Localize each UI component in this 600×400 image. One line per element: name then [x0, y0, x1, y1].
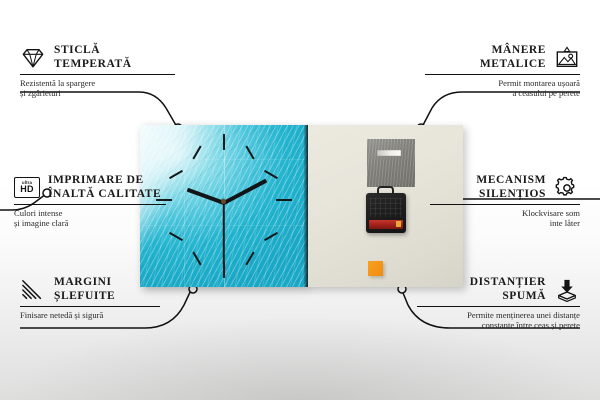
feature-title: MÂNERE METALICE: [480, 44, 546, 71]
feature-rule: [417, 306, 580, 307]
feature-title: MECANISM SILENȚIOS: [476, 174, 546, 201]
clock-tick-12: [223, 134, 225, 150]
feature-description: Culori intense și imagine clară: [14, 208, 166, 228]
feature-description: Klockvisare som inte låter: [430, 208, 580, 228]
hanger-keyhole-slot: [377, 150, 401, 156]
feature-title: DISTANȚIER SPUMĂ: [470, 276, 546, 303]
feature-rule: [20, 74, 175, 75]
ultra-hd-icon: ultra HD: [14, 177, 40, 198]
diagonal-lines-icon: [20, 278, 46, 302]
gear-icon: [554, 176, 580, 200]
diamond-icon: [20, 46, 46, 70]
feature-rule: [425, 74, 580, 75]
feature-description: Finisare netedă și sigură: [20, 310, 160, 320]
mechanism-texture: [370, 198, 402, 217]
feature-title: STICLĂ TEMPERATĂ: [54, 44, 132, 71]
clock-second-hand: [223, 203, 225, 265]
feature-description: Rezistentă la spargere și zgârieturi: [20, 78, 175, 98]
feature-high-quality-print: ultra HD IMPRIMARE DE ÎNALTĂ CALITATE Cu…: [14, 174, 166, 228]
mechanism-hanging-loop: [377, 186, 394, 195]
feature-rule: [14, 204, 166, 205]
clock-hour-hand: [187, 188, 225, 205]
clock-tick-3: [276, 199, 292, 201]
feature-description: Permit montarea ușoară a ceasului pe per…: [425, 78, 580, 98]
clock-tick-8: [169, 232, 183, 241]
clock-tick-2: [264, 170, 278, 179]
feature-polished-edges: MARGINI ȘLEFUITE Finisare netedă și sigu…: [20, 276, 160, 320]
feature-silent-mechanism: MECANISM SILENȚIOS Klockvisare som inte …: [430, 174, 580, 228]
clock-tick-5: [245, 252, 254, 266]
clock-tick-11: [192, 146, 201, 160]
clock-center-hub: [221, 199, 226, 204]
clock-tick-7: [192, 252, 201, 266]
clock-mechanism-box: [366, 193, 406, 233]
foam-spacer-pad: [368, 261, 383, 276]
clock-tick-1: [245, 146, 254, 160]
feature-title: IMPRIMARE DE ÎNALTĂ CALITATE: [48, 174, 161, 201]
feature-foam-spacer: DISTANȚIER SPUMĂ Permite menținerea unei…: [417, 276, 580, 330]
feature-rule: [430, 204, 580, 205]
picture-frame-icon: [554, 46, 580, 70]
down-arrow-stack-icon: [554, 278, 580, 302]
ultra-hd-icon-main-label: HD: [20, 185, 34, 194]
feature-description: Permite menținerea unei distanțe constan…: [417, 310, 580, 330]
metal-hanger-plate: [367, 139, 415, 187]
feature-rule: [20, 306, 160, 307]
clock-tick-4: [264, 232, 278, 241]
feature-title: MARGINI ȘLEFUITE: [54, 276, 115, 303]
feature-tempered-glass: STICLĂ TEMPERATĂ Rezistentă la spargere …: [20, 44, 175, 98]
feature-metal-handles: MÂNERE METALICE Permit montarea ușoară a…: [425, 44, 580, 98]
aa-battery: [369, 220, 403, 229]
clock-tick-10: [169, 170, 183, 179]
clock-minute-hand: [223, 179, 267, 205]
product-infographic: STICLĂ TEMPERATĂ Rezistentă la spargere …: [0, 0, 600, 400]
